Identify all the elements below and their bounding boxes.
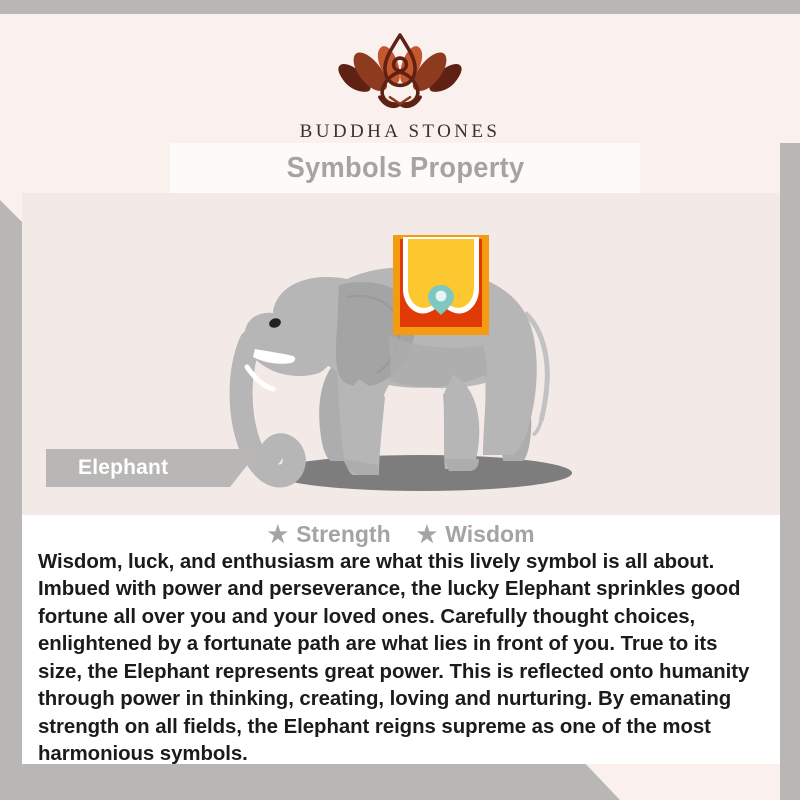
title-band: Symbols Property (170, 143, 640, 193)
walking-elephant-illustration-icon (207, 215, 627, 505)
brand-name: BUDDHA STONES (300, 121, 501, 143)
symbol-description: Wisdom, luck, and enthusiasm are what th… (38, 549, 766, 769)
page-title: Symbols Property (286, 152, 524, 185)
star-icon: ★ (267, 523, 288, 546)
star-icon: ★ (417, 523, 438, 546)
property-wisdom-label: Wisdom (445, 521, 534, 548)
description-panel: ★ Strength ★ Wisdom Wisdom, luck, and en… (22, 515, 780, 764)
frame-top-bar (0, 0, 800, 14)
lotus-meditation-logo-icon (316, 30, 484, 114)
symbol-name-label: Elephant (78, 456, 168, 480)
property-strength-label: Strength (296, 521, 391, 548)
frame-left-bar (0, 200, 22, 760)
property-list: ★ Strength ★ Wisdom (22, 515, 780, 548)
property-strength: ★ Strength (267, 521, 390, 548)
property-wisdom: ★ Wisdom (417, 521, 535, 548)
brand-logo: BUDDHA STONES (0, 30, 800, 143)
card-header: BUDDHA STONES (0, 14, 800, 143)
symbol-name-banner: Elephant (46, 449, 260, 487)
symbol-info-card: BUDDHA STONES Symbols Property (0, 0, 800, 800)
